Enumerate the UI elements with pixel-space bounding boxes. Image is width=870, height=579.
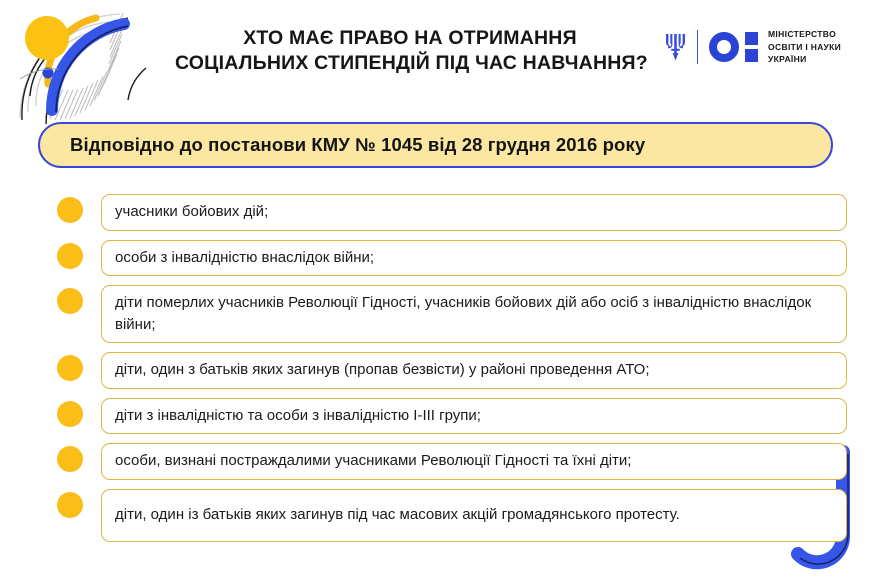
- list-item-text: особи, визнані постраждалими учасниками …: [115, 450, 631, 472]
- list-item: діти померлих учасників Революції Гіднос…: [57, 285, 847, 343]
- eligibility-list: учасники бойових дій; особи з інвалідніс…: [57, 194, 847, 551]
- list-item-text: діти з інвалідністю та особи з інвалідні…: [115, 405, 481, 427]
- bullet-icon: [57, 197, 83, 223]
- ministry-name: МІНІСТЕРСТВО ОСВІТИ І НАУКИ УКРАЇНИ: [768, 28, 841, 66]
- list-item-box: учасники бойових дій;: [101, 194, 847, 231]
- bullet-icon: [57, 243, 83, 269]
- list-item-box: особи, визнані постраждалими учасниками …: [101, 443, 847, 480]
- page-title: ХТО МАЄ ПРАВО НА ОТРИМАННЯ СОЦІАЛЬНИХ СТ…: [175, 26, 645, 76]
- ministry-logo: МІНІСТЕРСТВО ОСВІТИ І НАУКИ УКРАЇНИ: [665, 24, 841, 70]
- page-header: ХТО МАЄ ПРАВО НА ОТРИМАННЯ СОЦІАЛЬНИХ СТ…: [0, 0, 870, 110]
- bullet-icon: [57, 355, 83, 381]
- ring-icon: [709, 32, 739, 62]
- bullet-icon: [57, 446, 83, 472]
- list-item-text: учасники бойових дій;: [115, 201, 268, 223]
- page-title-line-1: ХТО МАЄ ПРАВО НА ОТРИМАННЯ: [175, 26, 645, 51]
- list-item-text: діти, один із батьків яких загинув під ч…: [115, 504, 680, 526]
- list-item-box: діти, один з батьків яких загинув (пропа…: [101, 352, 847, 389]
- bullet-icon: [57, 401, 83, 427]
- list-item-box: діти, один із батьків яких загинув під ч…: [101, 489, 847, 542]
- list-item: діти, один з батьків яких загинув (пропа…: [57, 352, 847, 389]
- list-item: учасники бойових дій;: [57, 194, 847, 231]
- ministry-name-line-1: МІНІСТЕРСТВО: [768, 28, 841, 41]
- ministry-name-line-3: УКРАЇНИ: [768, 53, 841, 66]
- page-title-line-2: СОЦІАЛЬНИХ СТИПЕНДІЙ ПІД ЧАС НАВЧАННЯ?: [175, 51, 645, 76]
- list-item: діти з інвалідністю та особи з інвалідні…: [57, 398, 847, 435]
- list-item-box: діти з інвалідністю та особи з інвалідні…: [101, 398, 847, 435]
- list-item-text: особи з інвалідністю внаслідок війни;: [115, 247, 374, 269]
- regulation-banner: Відповідно до постанови КМУ № 1045 від 2…: [38, 122, 833, 168]
- list-item: особи, визнані постраждалими учасниками …: [57, 443, 847, 480]
- list-item: діти, один із батьків яких загинув під ч…: [57, 489, 847, 542]
- regulation-banner-text: Відповідно до постанови КМУ № 1045 від 2…: [70, 134, 645, 156]
- list-item: особи з інвалідністю внаслідок війни;: [57, 240, 847, 277]
- list-item-text: діти померлих учасників Революції Гіднос…: [115, 292, 833, 335]
- trident-icon: [665, 32, 686, 62]
- square-bottom: [745, 49, 758, 62]
- bullet-icon: [57, 288, 83, 314]
- squares-icon: [745, 32, 758, 62]
- list-item-box: особи з інвалідністю внаслідок війни;: [101, 240, 847, 277]
- bullet-icon: [57, 492, 83, 518]
- mon-emblem: [709, 32, 758, 62]
- list-item-text: діти, один з батьків яких загинув (пропа…: [115, 359, 650, 381]
- logo-divider: [697, 30, 698, 64]
- square-top: [745, 32, 758, 45]
- ministry-name-line-2: ОСВІТИ І НАУКИ: [768, 41, 841, 54]
- list-item-box: діти померлих учасників Революції Гіднос…: [101, 285, 847, 343]
